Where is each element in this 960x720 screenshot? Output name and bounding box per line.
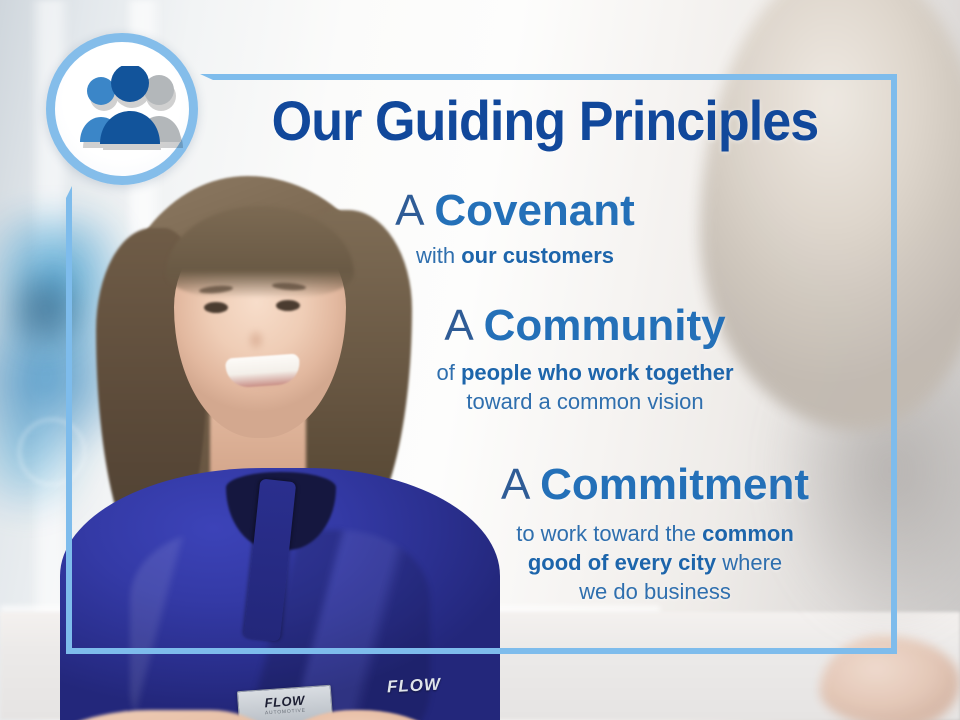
principle-2-body-bold: people who work together [461, 360, 734, 385]
frame-bottom-edge [66, 648, 897, 654]
principle-1-keyword: Covenant [434, 186, 634, 235]
principle-3-body-line-1: to work toward the common [420, 519, 890, 548]
frame-left-edge [66, 198, 72, 654]
principle-3-title: A Commitment [420, 462, 890, 509]
people-badge [46, 33, 198, 185]
principle-3-body-bold-2: good of every city [528, 550, 716, 575]
principle-2-body: of people who work together toward a com… [350, 358, 820, 416]
frame-right-edge [891, 74, 897, 654]
principle-1-body: with our customers [300, 241, 730, 270]
page-title: Our Guiding Principles [233, 92, 856, 149]
people-group-icon [75, 66, 187, 150]
principle-2-body-line-1: of people who work together [350, 358, 820, 387]
principle-1-body-plain: with [416, 243, 461, 268]
principle-3-body: to work toward the common good of every … [420, 519, 890, 606]
principle-3-body-line-2: good of every city where [420, 548, 890, 577]
principle-1-article: A [395, 186, 422, 235]
principle-3-article: A [501, 460, 528, 509]
principle-2-body-plain: of [436, 360, 460, 385]
employee-nose [246, 328, 266, 352]
principle-2-article: A [444, 301, 471, 350]
principle-2-title: A Community [350, 303, 820, 350]
marketing-graphic: FLOW FLOW AUTOMOTIVE [0, 0, 960, 720]
principle-3-body-line-3: we do business [420, 577, 890, 606]
chest-logo: FLOW [369, 673, 458, 700]
principle-3-body-bold-1: common [702, 521, 794, 546]
principle-2-body-line-2: toward a common vision [350, 387, 820, 416]
principle-3-keyword: Commitment [540, 460, 809, 509]
principle-1-title: A Covenant [300, 188, 730, 235]
employee-eye-left [204, 302, 228, 313]
principle-1-body-bold: our customers [461, 243, 614, 268]
frame-top-edge [213, 74, 897, 80]
employee-eye-right [276, 300, 300, 311]
principle-commitment: A Commitment to work toward the common g… [420, 462, 890, 606]
principle-3-body-plain-1: to work toward the [516, 521, 702, 546]
principle-2-keyword: Community [484, 301, 726, 350]
principle-3-body-plain-2: where [716, 550, 782, 575]
principle-community: A Community of people who work together … [350, 303, 820, 416]
principle-covenant: A Covenant with our customers [300, 188, 730, 270]
